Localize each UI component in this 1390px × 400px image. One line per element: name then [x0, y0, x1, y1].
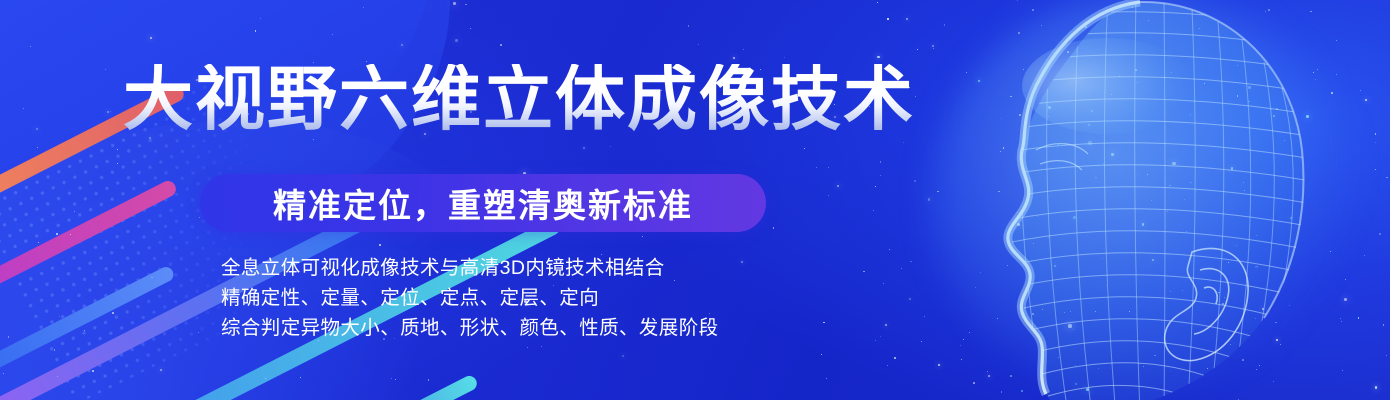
body-line: 精确定性、定量、定位、定点、定层、定向 — [221, 283, 719, 313]
hero-banner: 大视野六维立体成像技术 精准定位，重塑清奥新标准 全息立体可视化成像技术与高清3… — [0, 0, 1390, 400]
subtitle-pill: 精准定位，重塑清奥新标准 — [200, 174, 766, 232]
page-title: 大视野六维立体成像技术 — [123, 64, 915, 134]
subtitle-text: 精准定位，重塑清奥新标准 — [200, 174, 766, 232]
body-text-block: 全息立体可视化成像技术与高清3D内镜技术相结合 精确定性、定量、定位、定点、定层… — [221, 253, 719, 343]
body-line: 综合判定异物大小、质地、形状、颜色、性质、发展阶段 — [221, 313, 719, 343]
body-line: 全息立体可视化成像技术与高清3D内镜技术相结合 — [221, 253, 719, 283]
